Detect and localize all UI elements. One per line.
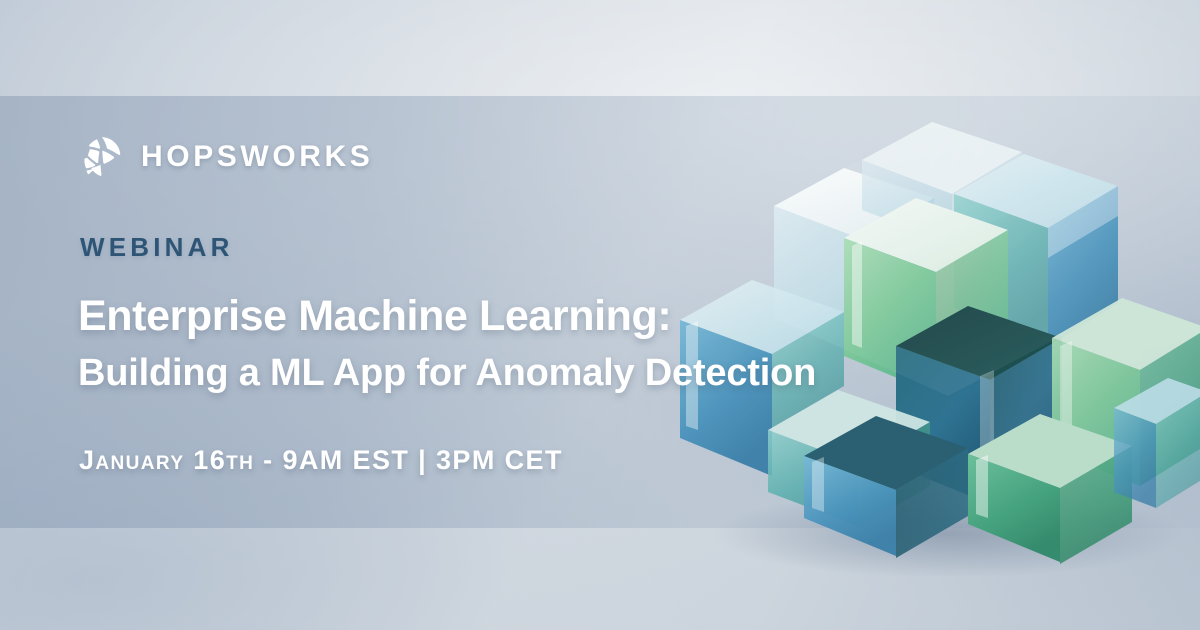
webinar-promo-banner: HOPSWORKS WEBINAR Enterprise Machine Lea…: [0, 0, 1200, 630]
hops-cone-icon: [78, 134, 124, 180]
brand-name: HOPSWORKS: [141, 142, 373, 172]
brand-logo: HOPSWORKS: [78, 134, 373, 180]
title-line-1: Enterprise Machine Learning:: [78, 293, 671, 339]
event-datetime: January 16th - 9AM EST | 3PM CET: [79, 447, 563, 474]
title-line-2: Building a ML App for Anomaly Detection: [78, 353, 816, 394]
banner-content: HOPSWORKS WEBINAR Enterprise Machine Lea…: [78, 0, 978, 630]
eyebrow-label: WEBINAR: [80, 234, 234, 260]
